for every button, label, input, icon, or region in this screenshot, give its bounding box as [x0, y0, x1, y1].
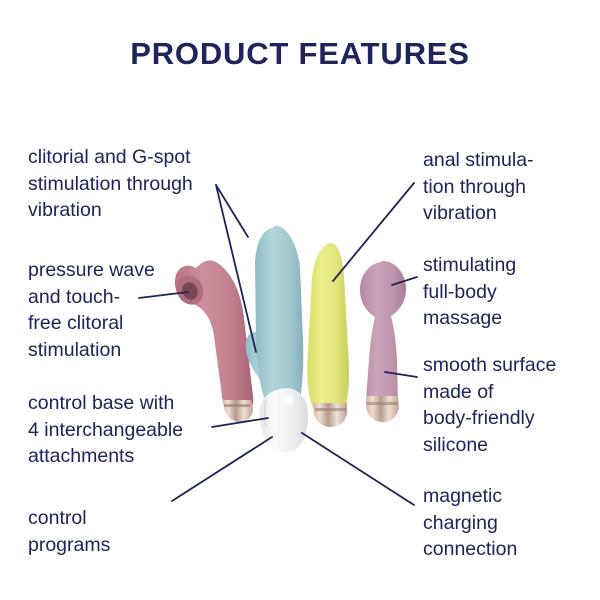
feature-label-control-base: control base with 4 interchangeable atta… — [28, 390, 223, 470]
feature-label-anal-stimulation: anal stimula- tion through vibration — [423, 147, 588, 227]
wand-attachment — [360, 261, 406, 422]
feature-label-clitorial: clitorial and G-spot stimulation through… — [28, 144, 238, 224]
product-features-infographic: PRODUCT FEATURES — [0, 0, 600, 600]
metal-contact-yellow — [313, 403, 347, 427]
control-base — [260, 388, 309, 452]
feature-label-full-body-massage: stimulating full-body massage — [423, 252, 588, 332]
metal-contact-mauve — [366, 396, 399, 422]
feature-label-pressure-wave: pressure wave and touch- free clitoral s… — [28, 257, 213, 363]
feature-label-magnetic-charging: magnetic charging connection — [423, 483, 588, 563]
metal-contact-pink — [222, 400, 253, 422]
feature-label-smooth-surface: smooth surface made of body-friendly sil… — [423, 352, 595, 458]
g-spot-attachment — [307, 243, 349, 427]
feature-label-control-programs: control programs — [28, 505, 188, 558]
